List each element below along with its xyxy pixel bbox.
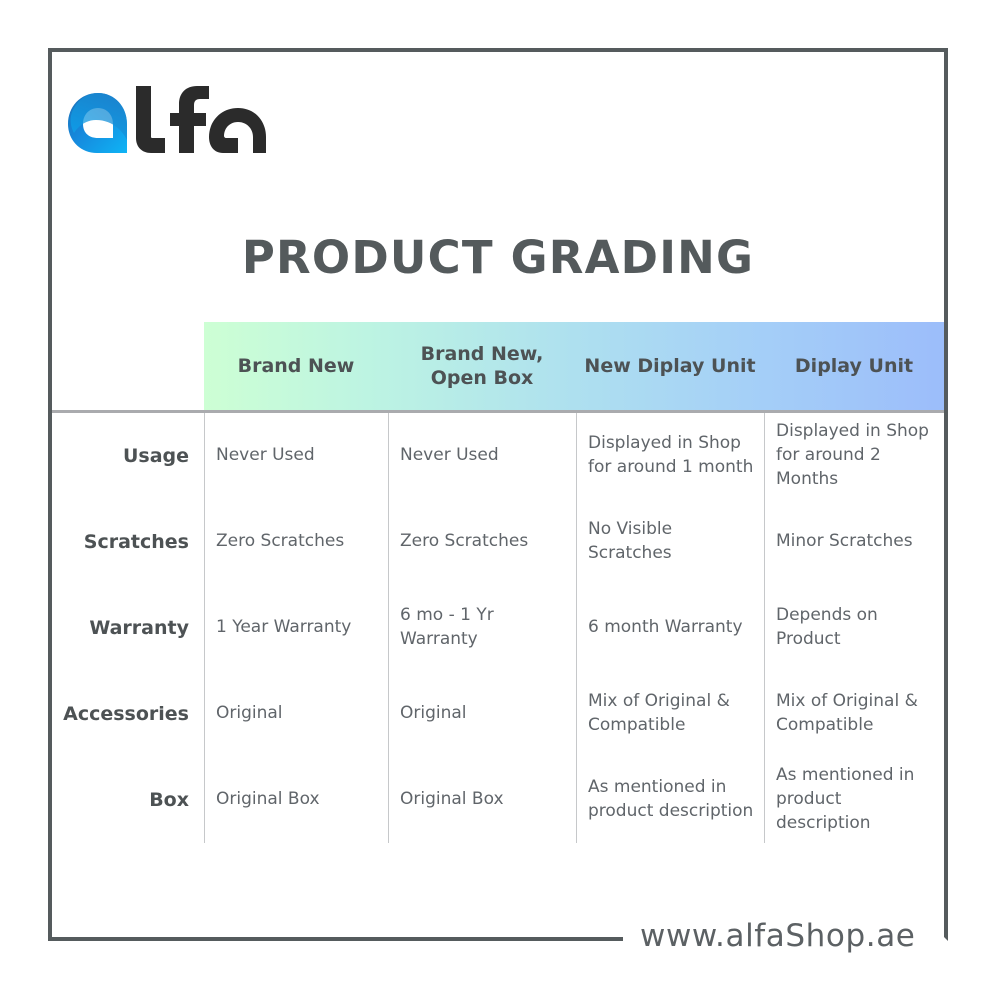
row-label-box: Box: [52, 789, 204, 811]
frame-bottom-rule: [48, 937, 623, 941]
column-header-brand-new-open-box: Brand New, Open Box: [388, 322, 576, 410]
column-divider-0: [204, 413, 205, 843]
page-title: PRODUCT GRADING: [52, 231, 944, 284]
site-url: www.alfaShop.ae: [640, 918, 915, 954]
cell-accessories-new-display-unit: Mix of Original & Compatible: [576, 671, 764, 757]
cell-scratches-display-unit: Minor Scratches: [764, 499, 944, 585]
column-header-display-unit: Diplay Unit: [764, 322, 944, 410]
column-header-brand-new: Brand New: [204, 322, 388, 410]
cell-usage-new-display-unit: Displayed in Shop for around 1 month: [576, 413, 764, 499]
alfa-logo: [66, 80, 266, 160]
row-label-usage: Usage: [52, 445, 204, 467]
table-row: Scratches Zero Scratches Zero Scratches …: [52, 499, 944, 585]
table-row: Usage Never Used Never Used Displayed in…: [52, 413, 944, 499]
cell-accessories-display-unit: Mix of Original & Compatible: [764, 671, 944, 757]
column-header-new-display-unit: New Diplay Unit: [576, 322, 764, 410]
cell-box-display-unit: As mentioned in product description: [764, 757, 944, 843]
column-divider-1: [388, 413, 389, 843]
table-header-row: Brand New Brand New, Open Box New Diplay…: [204, 322, 944, 410]
product-grading-table: Brand New Brand New, Open Box New Diplay…: [52, 322, 944, 847]
cell-accessories-open-box: Original: [388, 671, 576, 757]
cell-scratches-open-box: Zero Scratches: [388, 499, 576, 585]
table-row: Warranty 1 Year Warranty 6 mo - 1 Yr War…: [52, 585, 944, 671]
cell-usage-brand-new: Never Used: [204, 413, 388, 499]
column-divider-2: [576, 413, 577, 843]
alfa-logo-mark: [66, 80, 266, 160]
cell-scratches-brand-new: Zero Scratches: [204, 499, 388, 585]
cell-accessories-brand-new: Original: [204, 671, 388, 757]
cell-usage-open-box: Never Used: [388, 413, 576, 499]
cell-warranty-display-unit: Depends on Product: [764, 585, 944, 671]
cell-scratches-new-display-unit: No Visible Scratches: [576, 499, 764, 585]
row-label-warranty: Warranty: [52, 617, 204, 639]
table-body: Usage Never Used Never Used Displayed in…: [52, 413, 944, 843]
column-divider-3: [764, 413, 765, 843]
table-row: Box Original Box Original Box As mention…: [52, 757, 944, 843]
table-row: Accessories Original Original Mix of Ori…: [52, 671, 944, 757]
cell-box-brand-new: Original Box: [204, 757, 388, 843]
cell-warranty-new-display-unit: 6 month Warranty: [576, 585, 764, 671]
cell-warranty-open-box: 6 mo - 1 Yr Warranty: [388, 585, 576, 671]
row-label-scratches: Scratches: [52, 531, 204, 553]
row-label-accessories: Accessories: [52, 703, 204, 725]
cell-box-open-box: Original Box: [388, 757, 576, 843]
cell-box-new-display-unit: As mentioned in product description: [576, 757, 764, 843]
cell-usage-display-unit: Displayed in Shop for around 2 Months: [764, 413, 944, 499]
cell-warranty-brand-new: 1 Year Warranty: [204, 585, 388, 671]
